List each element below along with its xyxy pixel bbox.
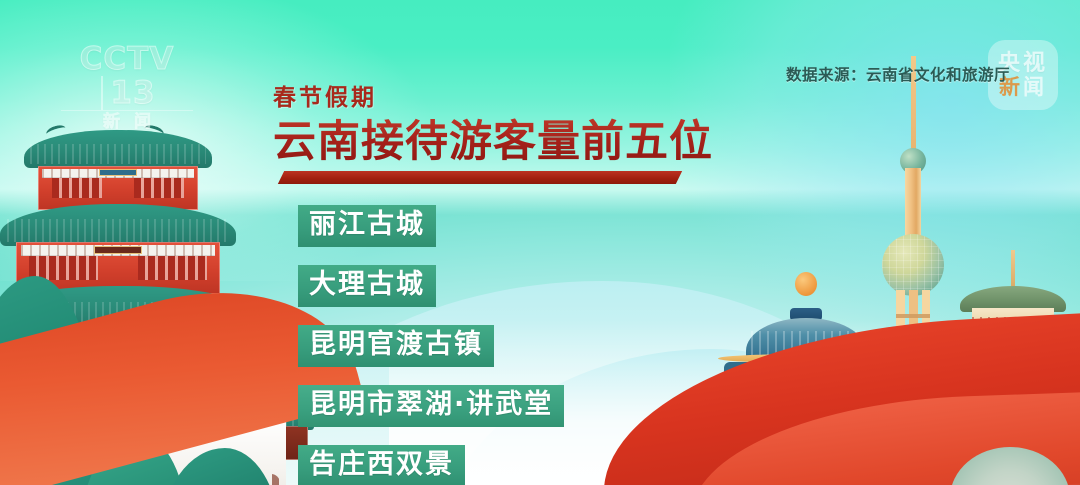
ranking-item-2[interactable]: 大理古城 <box>298 265 436 307</box>
pagoda-plaque-tier2 <box>94 246 142 255</box>
ranking-item-3[interactable]: 昆明官渡古镇 <box>298 325 494 367</box>
ranking-item-5[interactable]: 告庄西双景 <box>298 445 465 485</box>
pagoda-windows-right-tier1 <box>134 178 185 198</box>
title-headline: 云南接待游客量前五位 <box>273 116 713 168</box>
ranking-item-1[interactable]: 丽江古城 <box>298 205 436 247</box>
temple-finial-orb-icon <box>795 272 817 296</box>
pagoda-windows-left-tier1 <box>52 178 103 198</box>
broadcast-graphic: CCTV13 新闻 央视 新闻 数据来源：云南省文化和旅游厅 春节假期 云南接待… <box>0 0 1080 485</box>
ranking-item-4[interactable]: 昆明市翠湖·讲武堂 <box>298 385 564 427</box>
pagoda-roof-tier2 <box>0 204 236 246</box>
right-pagoda-spire <box>1011 250 1015 290</box>
data-source-label: 数据来源：云南省文化和旅游厅 <box>786 63 1010 85</box>
cctv-news-logo-rest-char: 闻 <box>1023 75 1047 99</box>
title-kicker: 春节假期 <box>273 84 713 112</box>
pagoda-windows-right-tier2 <box>138 256 207 280</box>
tower-large-sphere <box>882 234 944 296</box>
pagoda-plaque-tier1 <box>99 169 137 176</box>
title-underline-bar <box>278 171 682 184</box>
title-block: 春节假期 云南接待游客量前五位 云南接待游客量前五位 <box>273 84 713 184</box>
ranking-list: 丽江古城 大理古城 昆明官渡古镇 昆明市翠湖·讲武堂 告庄西双景 <box>298 205 564 485</box>
